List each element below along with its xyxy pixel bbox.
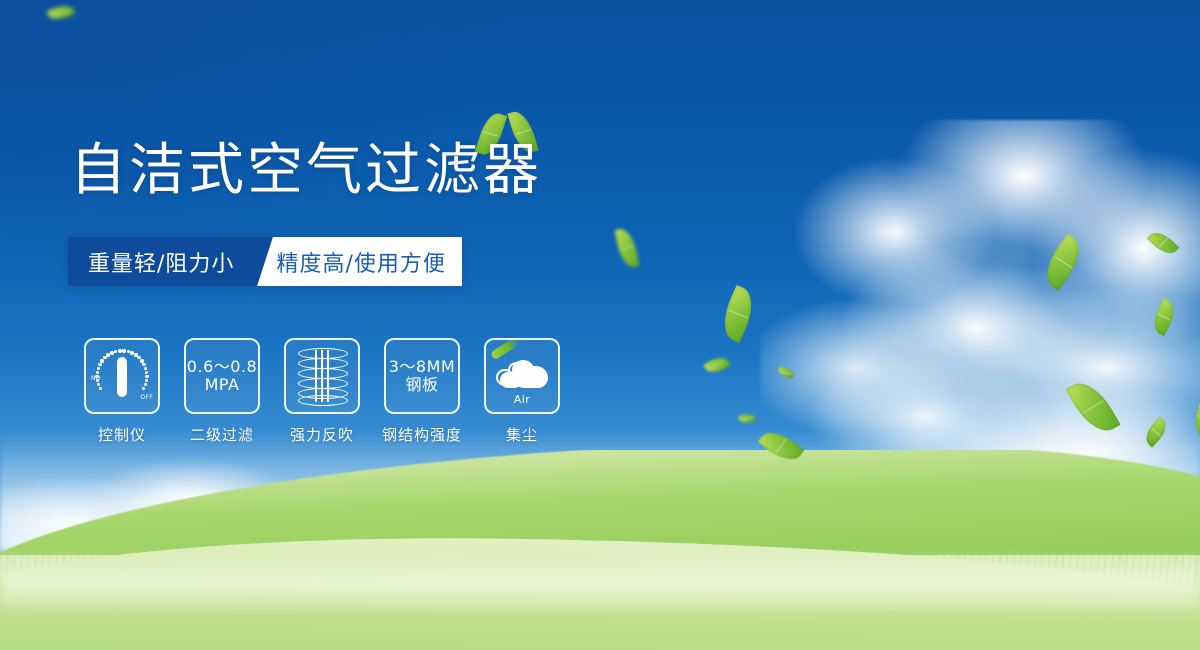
feature-icon-box: NO OFF: [84, 338, 160, 414]
dial-tick: [95, 375, 98, 378]
feature-item-dust[interactable]: Air 集尘: [472, 338, 572, 445]
dial-tick: [118, 349, 121, 352]
feature-list: NO OFF 控制仪 0.6～0.8 MPA 二级过滤: [72, 338, 572, 445]
steel-thickness: 3～8MM: [389, 358, 455, 376]
feature-label: 强力反吹: [290, 424, 354, 445]
grass-sheen: [0, 550, 1200, 610]
dial-tick: [144, 367, 147, 370]
dial-tick: [142, 387, 145, 390]
dial-tick: [99, 387, 102, 390]
feature-icon-box: 0.6～0.8 MPA: [184, 338, 260, 414]
feature-item-control[interactable]: NO OFF 控制仪: [72, 338, 172, 445]
dial-tick: [144, 383, 147, 386]
dial-tick: [127, 350, 130, 353]
dial-tick: [100, 359, 103, 362]
feature-item-pressure[interactable]: 0.6～0.8 MPA 二级过滤: [172, 338, 272, 445]
dial-tick: [145, 379, 148, 382]
leaf-streak-icon: [490, 338, 520, 360]
feature-label: 二级过滤: [190, 424, 254, 445]
dial-tick: [122, 349, 125, 352]
feature-item-steel[interactable]: 3～8MM 钢板 钢结构强度: [372, 338, 472, 445]
air-cloud-icon: Air: [492, 348, 552, 404]
control-dial-icon: NO OFF: [91, 345, 153, 407]
feature-label: 集尘: [506, 424, 538, 445]
subtitle-left: 重量轻/阻力小: [68, 237, 252, 286]
dial-tick: [114, 350, 117, 353]
steel-material: 钢板: [389, 376, 455, 394]
page-title: 自洁式空气过滤器: [70, 143, 542, 199]
pressure-text-icon: 0.6～0.8 MPA: [187, 358, 257, 394]
dial-tick: [142, 363, 145, 366]
grass-field: [0, 450, 1200, 650]
filter-stack-icon: [298, 348, 346, 404]
feature-icon-box: Air: [484, 338, 560, 414]
dial-tick: [96, 371, 99, 374]
feature-icon-box: [284, 338, 360, 414]
dial-label-off: OFF: [140, 394, 153, 401]
steel-plate-text-icon: 3～8MM 钢板: [389, 358, 455, 394]
feature-icon-box: 3～8MM 钢板: [384, 338, 460, 414]
dial-needle: [117, 357, 127, 397]
dial-tick: [145, 371, 148, 374]
air-label: Air: [492, 393, 552, 406]
feature-label: 控制仪: [98, 424, 146, 445]
dial-tick: [97, 367, 100, 370]
dial-tick: [97, 383, 100, 386]
dial-tick: [98, 363, 101, 366]
pressure-unit: MPA: [187, 376, 257, 394]
subtitle-bar: 重量轻/阻力小 精度高/使用方便: [68, 237, 462, 286]
subtitle-right: 精度高/使用方便: [252, 237, 462, 286]
feature-item-blowback[interactable]: 强力反吹: [272, 338, 372, 445]
feature-label: 钢结构强度: [382, 424, 462, 445]
dial-tick: [110, 351, 113, 354]
dial-tick: [145, 375, 148, 378]
pressure-range: 0.6～0.8: [187, 358, 257, 376]
product-banner: 自洁式空气过滤器 重量轻/阻力小 精度高/使用方便 NO OFF 控制仪 0.6…: [0, 0, 1200, 650]
